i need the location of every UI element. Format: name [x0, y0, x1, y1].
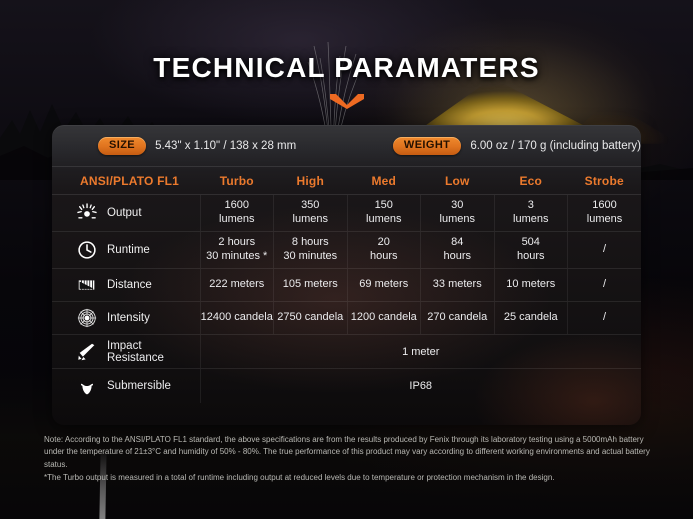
- column-header-turbo: Turbo: [200, 167, 274, 195]
- cell-runtime-strobe: /: [568, 232, 642, 269]
- cell-intensity-med: 1200 candela: [347, 302, 421, 335]
- row-label-text: Runtime: [107, 243, 150, 257]
- table-header-row: ANSI/PLATO FL1 Turbo High Med Low Eco St…: [52, 167, 641, 195]
- cell-runtime-med: 20 hours: [347, 232, 421, 269]
- water-drop-icon: [76, 375, 98, 397]
- size-weight-strip: SIZE 5.43" x 1.10" / 138 x 28 mm WEIGHT …: [52, 125, 641, 166]
- row-label-text: Output: [107, 206, 142, 220]
- footnote-block: Note: According to the ANSI/PLATO FL1 st…: [44, 434, 658, 486]
- cell-distance-turbo: 222 meters: [200, 269, 274, 302]
- column-header-standard: ANSI/PLATO FL1: [52, 167, 200, 195]
- cell-runtime-eco: 504 hours: [494, 232, 568, 269]
- cell-impact-resistance-value: 1 meter: [200, 335, 641, 369]
- column-header-med: Med: [347, 167, 421, 195]
- footnote-turbo: *The Turbo output is measured in a total…: [44, 472, 658, 484]
- cell-intensity-turbo: 12400 candela: [200, 302, 274, 335]
- sunburst-icon: [76, 202, 98, 224]
- row-label-submersible: Submersible: [52, 369, 200, 403]
- cell-distance-strobe: /: [568, 269, 642, 302]
- table-row: Submersible IP68: [52, 369, 641, 403]
- cell-output-strobe: 1600 lumens: [568, 195, 642, 232]
- impact-hammer-icon: [76, 341, 98, 363]
- cell-runtime-high: 8 hours 30 minutes: [274, 232, 348, 269]
- table-row: Runtime 2 hours 30 minutes * 8 hours 30 …: [52, 232, 641, 269]
- specifications-table: ANSI/PLATO FL1 Turbo High Med Low Eco St…: [52, 166, 641, 403]
- row-label-text: Intensity: [107, 311, 150, 325]
- row-label-runtime: Runtime: [52, 232, 200, 269]
- column-header-low: Low: [421, 167, 495, 195]
- column-header-strobe: Strobe: [568, 167, 642, 195]
- table-row: Impact Resistance 1 meter: [52, 335, 641, 369]
- product-spec-screen: TECHNICAL PARAMATERS SIZE 5.43" x 1.10" …: [0, 0, 693, 519]
- row-label-impact-resistance: Impact Resistance: [52, 335, 200, 369]
- row-label-text: Submersible: [107, 380, 171, 392]
- size-badge: SIZE: [98, 137, 146, 155]
- cell-submersible-value: IP68: [200, 369, 641, 403]
- table-row: Intensity 12400 candela 2750 candela 120…: [52, 302, 641, 335]
- target-intensity-icon: [76, 307, 98, 329]
- cell-distance-eco: 10 meters: [494, 269, 568, 302]
- column-header-eco: Eco: [494, 167, 568, 195]
- table-row: Distance 222 meters 105 meters 69 meters…: [52, 269, 641, 302]
- cell-output-med: 150 lumens: [347, 195, 421, 232]
- cell-output-low: 30 lumens: [421, 195, 495, 232]
- cell-output-high: 350 lumens: [274, 195, 348, 232]
- footnote-standard: Note: According to the ANSI/PLATO FL1 st…: [44, 434, 658, 471]
- size-value: 5.43" x 1.10" / 138 x 28 mm: [155, 140, 296, 152]
- cell-output-eco: 3 lumens: [494, 195, 568, 232]
- row-label-distance: Distance: [52, 269, 200, 302]
- cell-distance-low: 33 meters: [421, 269, 495, 302]
- beam-distance-icon: [76, 274, 98, 296]
- cell-intensity-low: 270 candela: [421, 302, 495, 335]
- cell-distance-high: 105 meters: [274, 269, 348, 302]
- cell-intensity-high: 2750 candela: [274, 302, 348, 335]
- page-title-block: TECHNICAL PARAMATERS: [0, 52, 693, 115]
- weight-value: 6.00 oz / 170 g (including battery): [470, 140, 641, 152]
- clock-icon: [76, 239, 98, 261]
- cell-runtime-turbo: 2 hours 30 minutes *: [200, 232, 274, 269]
- row-label-output: Output: [52, 195, 200, 232]
- weight-badge: WEIGHT: [393, 137, 461, 155]
- row-label-text: Impact Resistance: [107, 340, 164, 364]
- cell-intensity-eco: 25 candela: [494, 302, 568, 335]
- chevron-down-icon: [329, 93, 365, 110]
- cell-runtime-low: 84 hours: [421, 232, 495, 269]
- table-row: Output 1600 lumens 350 lumens 150 lumens…: [52, 195, 641, 232]
- row-label-text: Distance: [107, 278, 152, 292]
- spec-panel: SIZE 5.43" x 1.10" / 138 x 28 mm WEIGHT …: [52, 125, 641, 425]
- column-header-high: High: [274, 167, 348, 195]
- page-title: TECHNICAL PARAMATERS: [0, 52, 693, 84]
- cell-distance-med: 69 meters: [347, 269, 421, 302]
- cell-intensity-strobe: /: [568, 302, 642, 335]
- cell-output-turbo: 1600 lumens: [200, 195, 274, 232]
- row-label-intensity: Intensity: [52, 302, 200, 335]
